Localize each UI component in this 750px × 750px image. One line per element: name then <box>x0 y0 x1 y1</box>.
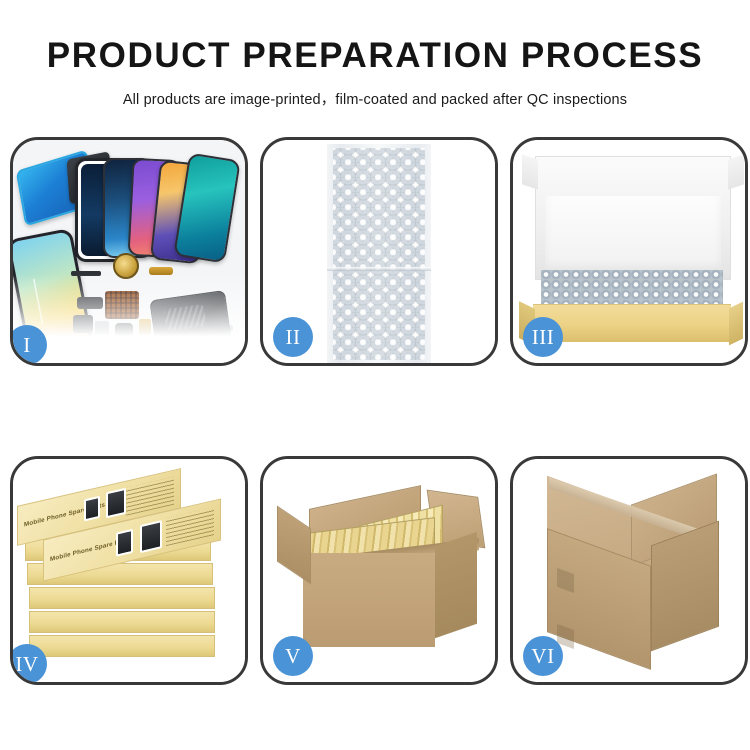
retail-box-spec-lines-2 <box>166 507 214 546</box>
retail-box-product-image-1a <box>84 496 100 522</box>
page-subtitle: All products are image-printed，film-coat… <box>0 88 750 109</box>
retail-box-slab-4 <box>29 611 215 633</box>
step-badge-2: II <box>273 317 313 357</box>
process-step-panel-6[interactable]: VI <box>510 456 748 685</box>
retail-box-spec-lines-1 <box>126 477 174 516</box>
page-header: PRODUCT PREPARATION PROCESS All products… <box>0 0 750 109</box>
step-badge-6: VI <box>523 636 563 676</box>
carton-side-face <box>435 532 477 638</box>
retail-box-product-image-2b <box>140 520 162 553</box>
process-step-panel-1[interactable]: I <box>10 137 248 366</box>
surface-sheen <box>13 274 245 363</box>
page-title: PRODUCT PREPARATION PROCESS <box>0 38 750 75</box>
process-step-panel-2[interactable]: II <box>260 137 498 366</box>
carton-front-face <box>303 553 435 647</box>
bubble-wrapped-product <box>541 270 723 304</box>
process-step-panel-5[interactable]: V <box>260 456 498 685</box>
bubble-pattern-offset <box>333 148 425 360</box>
carton-flap-left <box>277 506 311 585</box>
process-step-grid: I II III <box>10 137 742 685</box>
retail-box-product-image-1b <box>106 488 126 519</box>
step-badge-3: III <box>523 317 563 357</box>
retail-box-slab-5 <box>29 635 215 657</box>
process-step-panel-3[interactable]: III <box>510 137 748 366</box>
sleeve-seam <box>327 267 431 271</box>
foam-insert <box>545 196 721 272</box>
phone-parts-illustration <box>13 140 245 363</box>
retail-box-product-image-2a <box>116 529 133 557</box>
retail-box-slab-3 <box>29 587 215 609</box>
step-badge-5: V <box>273 636 313 676</box>
stacked-retail-boxes-illustration: Mobile Phone Spare Parts Mobile Phone Sp… <box>13 459 245 682</box>
bubble-wrap-sleeve <box>327 144 431 363</box>
process-step-panel-4[interactable]: Mobile Phone Spare Parts Mobile Phone Sp… <box>10 456 248 685</box>
product-preparation-process-page: PRODUCT PREPARATION PROCESS All products… <box>0 0 750 750</box>
